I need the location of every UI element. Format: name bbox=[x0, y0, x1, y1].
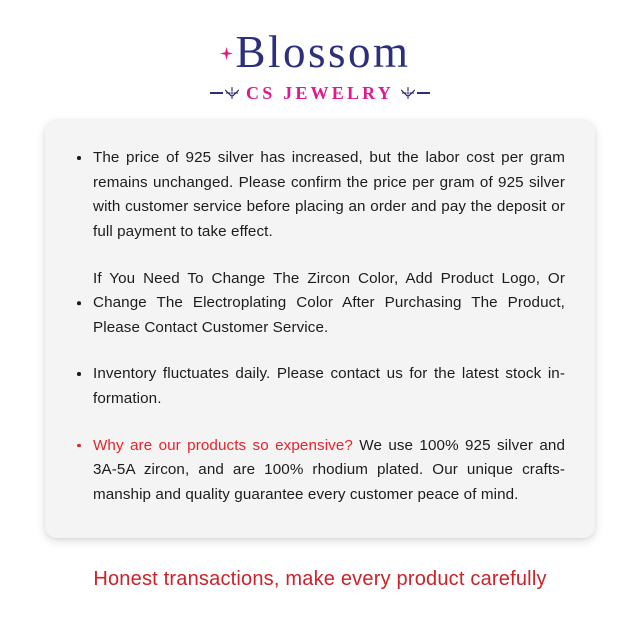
bullet-dot-icon bbox=[77, 444, 81, 448]
brand-subtitle-row: CS JEWELRY bbox=[0, 84, 640, 102]
bullet-highlight-text: Why are our products so expensive? bbox=[93, 437, 353, 454]
brand-name-line: Blossom bbox=[229, 30, 410, 75]
bullet-dot-icon bbox=[77, 156, 81, 160]
brand-logo-block: Blossom CS JEWELRY bbox=[0, 0, 640, 102]
brand-name: Blossom bbox=[229, 30, 410, 75]
list-item: If You Need To Change The Zircon Color, … bbox=[75, 267, 565, 341]
bullet-dot-icon bbox=[77, 372, 81, 376]
list-item: The price of 925 silver has increased, b… bbox=[75, 146, 565, 245]
brand-subtitle: CS JEWELRY bbox=[246, 84, 394, 102]
ornament-dash-right bbox=[417, 92, 430, 94]
ornament-dash-left bbox=[210, 92, 223, 94]
snowflake-ornament-icon-right bbox=[401, 86, 430, 100]
bullet-text: The price of 925 silver has increased, b… bbox=[93, 146, 565, 245]
notice-card: The price of 925 silver has increased, b… bbox=[45, 120, 595, 538]
snowflake-ornament-icon-left bbox=[210, 86, 239, 100]
bullet-dot-icon bbox=[77, 302, 81, 306]
list-item: Why are our products so expensive? We us… bbox=[75, 434, 565, 508]
list-item: Inventory fluctuates daily. Please conta… bbox=[75, 362, 565, 411]
bullet-text: Inventory fluctuates daily. Please conta… bbox=[93, 362, 565, 411]
bullet-text: If You Need To Change The Zircon Color, … bbox=[93, 267, 565, 341]
notice-bullet-list: The price of 925 silver has increased, b… bbox=[75, 146, 565, 508]
footer-tagline: Honest transactions, make every product … bbox=[0, 568, 640, 591]
bullet-text-highlighted: Why are our products so expensive? We us… bbox=[93, 434, 565, 508]
